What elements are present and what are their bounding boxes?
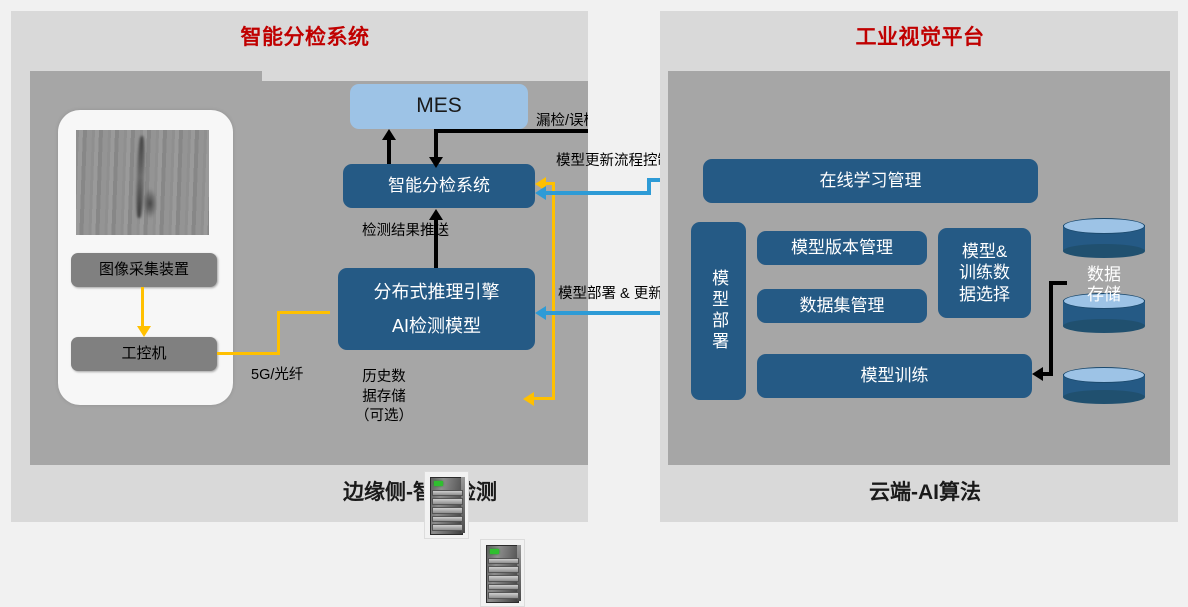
cylinder-bottom — [1063, 390, 1145, 404]
connector-sorting-to-mes-line — [387, 140, 391, 164]
node-mes[interactable]: MES — [350, 84, 528, 129]
node-data-storage[interactable]: 数据 存储 — [1063, 218, 1145, 324]
connector-orange-bus-top-seg — [546, 182, 555, 185]
connector-orange-to-servers-arrow — [523, 392, 534, 406]
label-history-storage: 历史数 据存储 （可选） — [349, 368, 419, 427]
node-sorting-system[interactable]: 智能分检系统 — [343, 164, 535, 208]
left-panel-bottom-title: 边缘侧-智能检测 — [295, 482, 545, 503]
connector-ipc-to-engine-seg — [277, 311, 331, 314]
connector-mes-down-arrow — [429, 157, 443, 168]
server-bay — [488, 575, 519, 582]
node-model-training[interactable]: 模型训练 — [757, 354, 1032, 398]
left-panel-title: 智能分检系统 — [215, 27, 395, 48]
connector-orange-bus-vertical — [552, 182, 555, 399]
server-status-led — [434, 481, 443, 486]
node-online-learning[interactable]: 在线学习管理 — [703, 159, 1038, 203]
connector-engine-to-sorting-arrow — [429, 209, 443, 220]
label-detection-result-push: 检测结果推送 — [362, 222, 449, 241]
cylinder-segment-top — [1063, 218, 1145, 258]
server-bay — [488, 558, 519, 565]
right-panel-title: 工业视觉平台 — [830, 27, 1010, 48]
defect-sample-image — [76, 130, 209, 235]
node-inference-engine-label: 分布式推理引擎 — [374, 281, 500, 304]
cylinder-bottom — [1063, 244, 1145, 258]
connector-update-flow-left-arrow — [535, 186, 546, 200]
server-bay — [432, 507, 463, 514]
label-history-storage-text: 历史数 据存储 （可选） — [355, 369, 413, 424]
node-model-and-training-data-select-label: 模型& 训练数 据选择 — [959, 241, 1010, 305]
connector-mes-down-line — [434, 129, 438, 160]
label-5g-fiber: 5G/光纤 — [251, 366, 303, 385]
connector-capture-to-ipc-line — [141, 287, 144, 326]
node-industrial-pc[interactable]: 工控机 — [71, 337, 217, 371]
server-bay — [488, 584, 519, 591]
node-image-capture[interactable]: 图像采集装置 — [71, 253, 217, 287]
server-bay — [488, 592, 519, 599]
connector-ipc-right-seg — [217, 352, 280, 355]
node-model-and-training-data-select[interactable]: 模型& 训练数 据选择 — [938, 228, 1031, 318]
connector-ipc-up-seg — [277, 311, 280, 355]
right-panel-bottom-title: 云端-AI算法 — [835, 482, 1015, 503]
connector-storage-to-training-arrow — [1032, 367, 1043, 381]
label-model-update-flow: 模型更新流程控制 — [556, 152, 672, 171]
server-bay — [432, 490, 463, 497]
node-inference-engine[interactable]: 分布式推理引擎 AI检测模型 — [338, 268, 535, 350]
node-data-storage-label: 数据 存储 — [1063, 265, 1145, 305]
connector-orange-bus-bottom-seg — [533, 397, 555, 400]
server-status-led — [490, 549, 499, 554]
server-icon-1 — [424, 471, 469, 539]
connector-model-deploy-arrow — [535, 306, 546, 320]
node-ai-model-label: AI检测模型 — [392, 315, 481, 338]
label-model-deploy-update: 模型部署 & 更新 — [558, 285, 663, 304]
node-model-version-manage[interactable]: 模型版本管理 — [757, 231, 927, 265]
cylinder-top — [1063, 367, 1145, 383]
panel-gap — [588, 0, 660, 536]
connector-storage-to-training-h2 — [1043, 372, 1053, 376]
cylinder-top — [1063, 218, 1145, 234]
cylinder-segment-bottom — [1063, 367, 1145, 404]
server-bay — [432, 498, 463, 505]
server-bay — [432, 524, 463, 531]
server-icon-2 — [480, 539, 525, 607]
cylinder-bottom — [1063, 319, 1145, 333]
connector-capture-to-ipc-arrow — [137, 326, 151, 337]
server-bay — [488, 566, 519, 573]
node-dataset-manage[interactable]: 数据集管理 — [757, 289, 927, 323]
connector-sorting-to-mes-arrow — [382, 129, 396, 140]
node-model-deploy[interactable]: 模型部署 — [691, 222, 746, 400]
server-bay — [432, 516, 463, 523]
connector-storage-to-training-v — [1049, 281, 1053, 375]
connector-update-flow-left-seg — [546, 191, 651, 195]
